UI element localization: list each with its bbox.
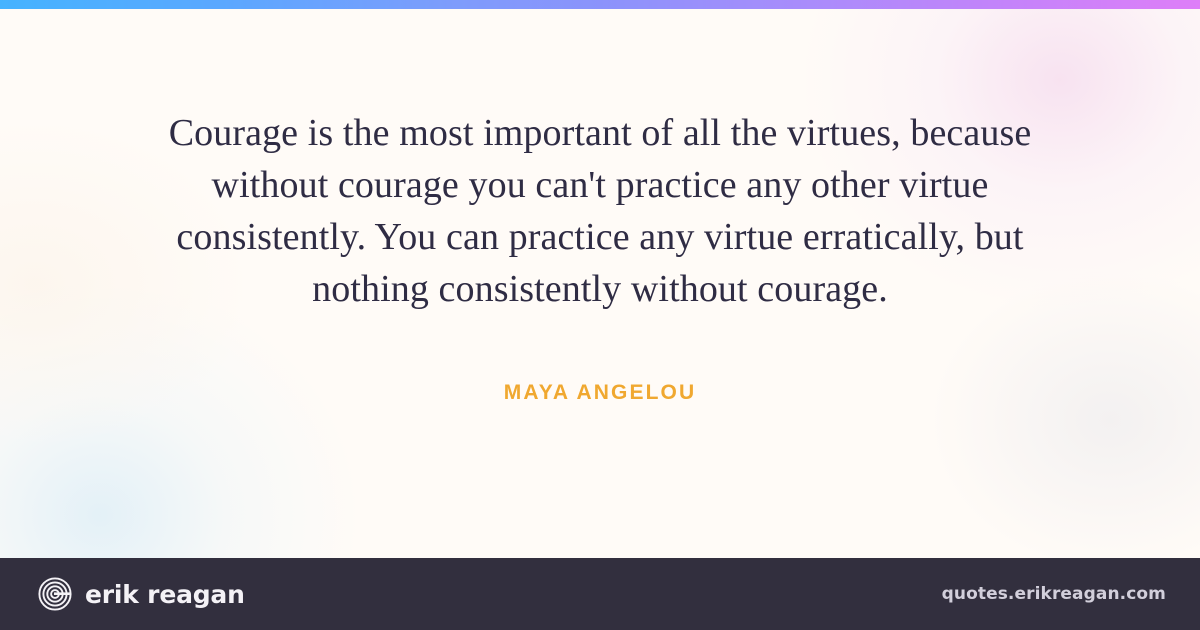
quote-author: MAYA ANGELOU bbox=[504, 381, 696, 405]
footer-bar: erik reagan quotes.erikreagan.com bbox=[0, 558, 1200, 630]
quote-card: Courage is the most important of all the… bbox=[0, 0, 1200, 630]
brand-name: erik reagan bbox=[85, 580, 245, 609]
top-gradient-rule bbox=[0, 0, 1200, 9]
site-url[interactable]: quotes.erikreagan.com bbox=[942, 584, 1166, 604]
brand-lockup[interactable]: erik reagan bbox=[38, 577, 245, 611]
concentric-circles-logo-icon bbox=[38, 577, 72, 611]
quote-stage: Courage is the most important of all the… bbox=[0, 9, 1200, 558]
quote-text: Courage is the most important of all the… bbox=[150, 107, 1050, 315]
